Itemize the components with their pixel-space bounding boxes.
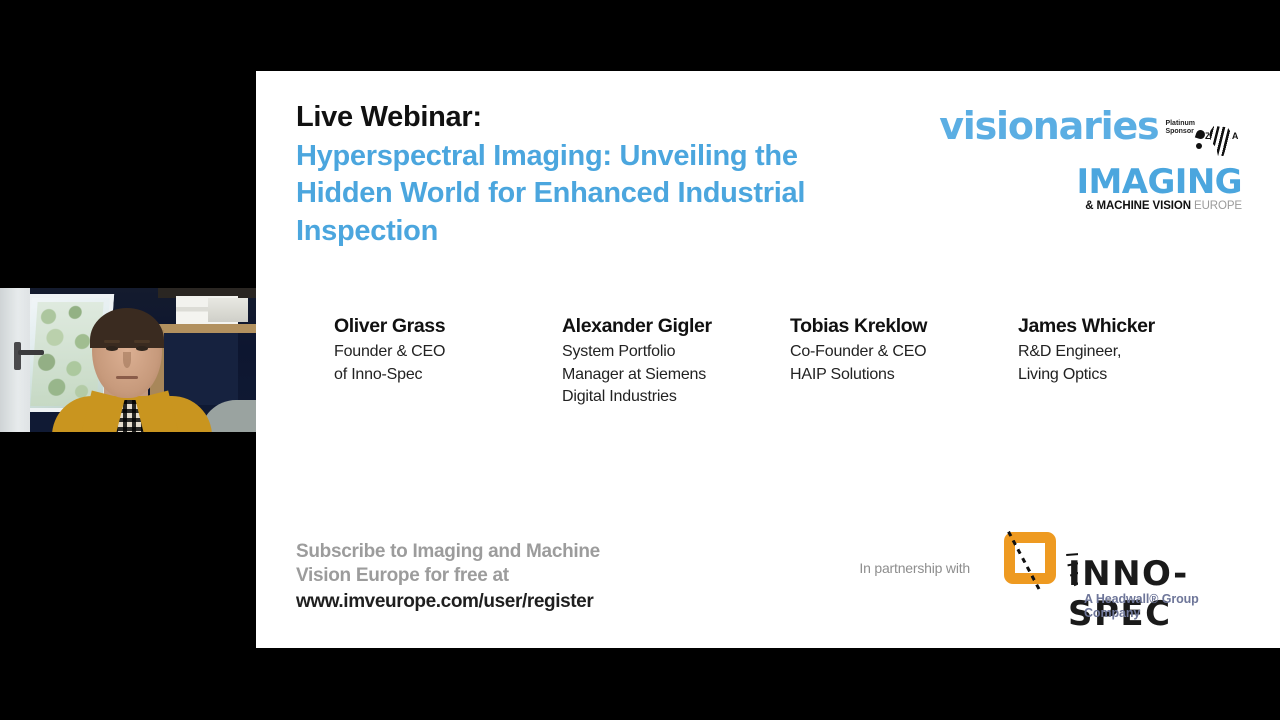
webcam-person-mouth [116, 376, 138, 379]
speaker-role: R&D Engineer, Living Optics [1018, 341, 1246, 386]
webcam-dark-panel [164, 333, 238, 405]
webcam-person-eye-right [136, 346, 148, 351]
speaker-role: System Portfolio Manager at Siemens Digi… [562, 341, 790, 409]
inno-spec-logo: INNO-SPEC A Headwall® Group Company [992, 530, 1252, 610]
webcam-door-handle [18, 350, 44, 355]
speaker-name: Oliver Grass [334, 315, 562, 338]
subscribe-url-link[interactable]: www.imveurope.com/user/register [296, 590, 726, 614]
speaker-name: James Whicker [1018, 315, 1246, 338]
slide-title-block: Live Webinar: Hyperspectral Imaging: Unv… [296, 101, 896, 250]
europe-text: EUROPE [1194, 200, 1242, 212]
partnership-label: In partnership with [859, 560, 970, 580]
speaker-name: Alexander Gigler [562, 315, 790, 338]
webcam-shelf-papers-stack [208, 298, 248, 322]
webcam-person-eyebrow-left [104, 340, 120, 343]
zebra-eye-icon [1196, 143, 1202, 149]
imaging-wordmark: IMAGING [922, 167, 1242, 198]
visionaries-logo: visionaries Platinum Sponsor ZEBRA [922, 107, 1242, 145]
webcam-door-handle-plate [14, 342, 21, 370]
presentation-slide[interactable]: Live Webinar: Hyperspectral Imaging: Unv… [256, 71, 1280, 648]
page-title: Hyperspectral Imaging: Unveiling the Hid… [296, 138, 896, 249]
speaker-card: Tobias Kreklow Co-Founder & CEO HAIP Sol… [790, 315, 1018, 409]
inno-spec-fan-icon [992, 546, 1078, 602]
speaker-role: Co-Founder & CEO HAIP Solutions [790, 341, 1018, 386]
machine-vision-text: & MACHINE VISION [1085, 200, 1194, 212]
sponsor-logo-area: visionaries Platinum Sponsor ZEBRA IMAGI… [922, 107, 1242, 212]
webcam-person-nose [123, 352, 131, 368]
visionaries-wordmark: visionaries [939, 107, 1158, 145]
subscribe-lead-text: Subscribe to Imaging and Machine Vision … [296, 540, 726, 589]
platinum-sponsor-label: Platinum Sponsor [1165, 120, 1195, 146]
speaker-name: Tobias Kreklow [790, 315, 1018, 338]
speaker-card: Oliver Grass Founder & CEO of Inno-Spec [334, 315, 562, 409]
zebra-logo: ZEBRA [1202, 126, 1242, 145]
webcam-person-eyebrow-right [134, 340, 150, 343]
webinar-kicker: Live Webinar: [296, 101, 896, 134]
partnership-block: In partnership with INNO-SPEC A Headwall… [859, 530, 1252, 610]
speaker-role: Founder & CEO of Inno-Spec [334, 341, 562, 386]
speakers-row: Oliver Grass Founder & CEO of Inno-Spec … [334, 315, 1254, 409]
speaker-card: James Whicker R&D Engineer, Living Optic… [1018, 315, 1246, 409]
subscribe-block: Subscribe to Imaging and Machine Vision … [296, 540, 726, 614]
inno-spec-tagline: A Headwall® Group Company [1084, 592, 1252, 620]
speaker-card: Alexander Gigler System Portfolio Manage… [562, 315, 790, 409]
imaging-machine-vision-europe-logo: IMAGING & MACHINE VISION EUROPE [922, 167, 1242, 212]
webcam-person-eye-left [106, 346, 118, 351]
webcam-shelf-board [158, 324, 256, 333]
participant-video-tile[interactable] [0, 288, 256, 432]
